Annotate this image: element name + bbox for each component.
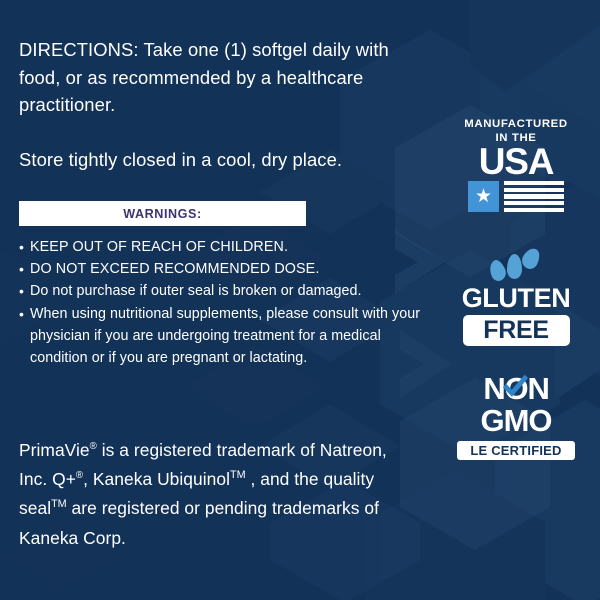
usa-flag-icon: ★ [468, 181, 564, 212]
gluten-free-word-free-box: FREE [463, 315, 570, 346]
non-gmo-badge: NON GMO LE CERTIFIED [440, 372, 592, 460]
warning-list-item-text: When using nutritional supplements, plea… [30, 303, 427, 370]
bullet-icon: • [19, 280, 30, 302]
warning-list-item: •When using nutritional supplements, ple… [19, 303, 427, 370]
directions-text: DIRECTIONS: Take one (1) softgel daily w… [19, 36, 414, 119]
warning-list-item: •KEEP OUT OF REACH OF CHILDREN. [19, 236, 427, 258]
bullet-icon: • [19, 236, 30, 258]
usa-badge-headline: USA [440, 144, 592, 180]
warning-list-item-text: KEEP OUT OF REACH OF CHILDREN. [30, 236, 427, 258]
warnings-heading-label: WARNINGS: [123, 207, 201, 221]
certification-badge-column: MANUFACTURED IN THE USA ★ GLUTEN FREE NO… [440, 0, 592, 600]
trademark-mark-symbol: TM [230, 469, 246, 481]
warning-list-item: •Do not purchase if outer seal is broken… [19, 280, 427, 302]
flag-stripe [504, 194, 564, 198]
gluten-free-badge: GLUTEN FREE [440, 248, 592, 346]
registered-mark-symbol: ® [90, 441, 97, 452]
flag-stripe [504, 201, 564, 205]
warning-list-item-text: Do not purchase if outer seal is broken … [30, 280, 427, 302]
bullet-icon: • [19, 303, 30, 370]
registered-mark-symbol: ® [76, 470, 83, 481]
non-gmo-line-non: NON [440, 372, 592, 405]
flag-stripe [504, 208, 564, 212]
wheat-leaf-icon [490, 248, 542, 279]
non-gmo-certification-label: LE CERTIFIED [470, 444, 561, 457]
warnings-list: •KEEP OUT OF REACH OF CHILDREN.•DO NOT E… [19, 236, 427, 369]
usa-flag-canton: ★ [468, 181, 499, 212]
non-gmo-certification-box: LE CERTIFIED [457, 441, 575, 460]
non-gmo-word-gmo: GMO [440, 404, 592, 437]
manufactured-in-the-usa-badge: MANUFACTURED IN THE USA ★ [440, 118, 592, 212]
label-text-panel: DIRECTIONS: Take one (1) softgel daily w… [19, 0, 439, 600]
star-icon: ★ [475, 187, 492, 206]
warning-list-item: •DO NOT EXCEED RECOMMENDED DOSE. [19, 258, 427, 280]
trademark-disclaimer-text: PrimaVie® is a registered trademark of N… [19, 436, 419, 553]
bullet-icon: • [19, 258, 30, 280]
warning-list-item-text: DO NOT EXCEED RECOMMENDED DOSE. [30, 258, 427, 280]
flag-stripe [504, 181, 564, 185]
non-gmo-word-non: NON [483, 373, 548, 404]
storage-instructions-text: Store tightly closed in a cool, dry plac… [19, 146, 419, 173]
gluten-free-word-gluten: GLUTEN [440, 284, 592, 313]
flag-stripe [504, 188, 564, 192]
usa-badge-line1: MANUFACTURED [440, 118, 592, 131]
usa-flag-stripes [504, 181, 564, 212]
warnings-heading-box: WARNINGS: [19, 201, 306, 226]
trademark-mark-symbol: TM [51, 499, 67, 511]
leaf-icon-right [519, 246, 543, 272]
leaf-icon-center [507, 254, 522, 279]
leaf-icon-left [487, 258, 509, 283]
gluten-free-word-free: FREE [483, 318, 548, 343]
